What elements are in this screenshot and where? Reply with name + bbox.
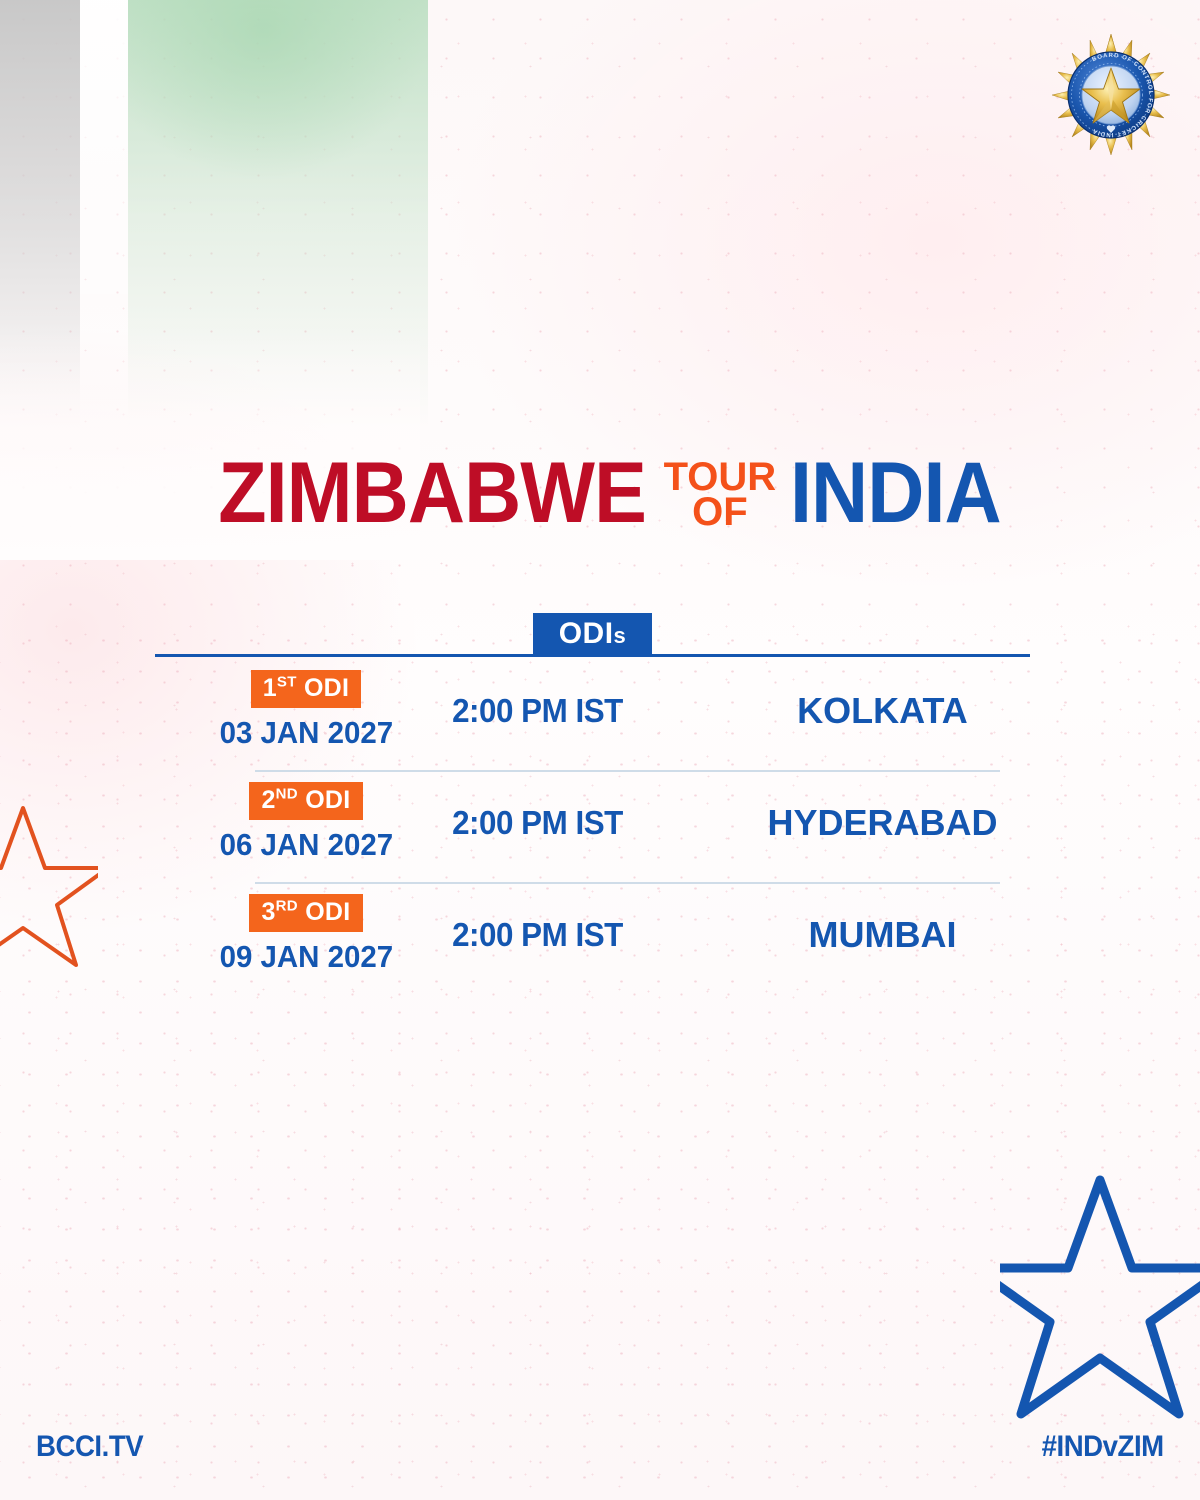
title-connector: TOUR OF — [664, 456, 777, 530]
match-badge: 3RD ODI — [249, 894, 362, 932]
fixture-poster: BOARD OF CONTROL FOR CRICKET INDIA ZIMBA… — [0, 0, 1200, 1500]
footer-site-label: BCCI.TV — [36, 1430, 143, 1464]
title-team-away: ZIMBABWE — [218, 452, 646, 535]
footer-hashtag: #INDvZIM — [1042, 1430, 1164, 1464]
star-outline-orange-icon — [0, 800, 98, 970]
section-divider-rule — [155, 654, 1030, 657]
match-badge: 1ST ODI — [251, 670, 362, 708]
match-badge-number: 3 — [261, 898, 275, 926]
match-badge-format: ODI — [304, 674, 349, 702]
title-team-home: INDIA — [790, 452, 1001, 535]
section-header-suffix: s — [614, 623, 627, 648]
match-time: 2:00 PM IST — [435, 660, 720, 730]
star-outline-blue-icon — [1000, 1170, 1200, 1420]
fixture-date-column: 3RD ODI 09 JAN 2027 — [155, 884, 435, 975]
match-badge-format: ODI — [305, 898, 350, 926]
match-badge-ordinal: RD — [276, 898, 298, 915]
title-connector-line2: OF — [692, 495, 748, 530]
match-badge: 2ND ODI — [249, 782, 362, 820]
bcci-logo: BOARD OF CONTROL FOR CRICKET INDIA — [1050, 34, 1172, 156]
match-date: 03 JAN 2027 — [219, 715, 393, 751]
poster-title: ZIMBABWE TOUR OF INDIA — [0, 452, 1200, 535]
match-badge-ordinal: ND — [276, 786, 298, 803]
section-header-label: ODI — [559, 617, 614, 650]
match-date: 06 JAN 2027 — [219, 827, 393, 863]
fixture-row-1[interactable]: 1ST ODI 03 JAN 2027 2:00 PM IST KOLKATA — [155, 660, 1030, 772]
match-time: 2:00 PM IST — [435, 884, 720, 954]
tricolour-band-green-glow — [128, 0, 428, 300]
fixture-row-2[interactable]: 2ND ODI 06 JAN 2027 2:00 PM IST HYDERABA… — [155, 772, 1030, 884]
match-venue: HYDERABAD — [735, 772, 1030, 844]
match-badge-format: ODI — [305, 786, 350, 814]
section-header-badge: ODIs — [533, 613, 653, 656]
match-time: 2:00 PM IST — [435, 772, 720, 842]
match-badge-number: 2 — [261, 786, 275, 814]
fixture-date-column: 1ST ODI 03 JAN 2027 — [155, 660, 435, 751]
fixture-date-column: 2ND ODI 06 JAN 2027 — [155, 772, 435, 863]
fixtures-list: 1ST ODI 03 JAN 2027 2:00 PM IST KOLKATA … — [155, 660, 1030, 996]
match-venue: KOLKATA — [735, 660, 1030, 732]
match-badge-ordinal: ST — [277, 674, 297, 691]
match-badge-number: 1 — [263, 674, 277, 702]
section-header-row: ODIs — [155, 606, 1030, 656]
match-date: 09 JAN 2027 — [219, 939, 393, 975]
fixture-row-3[interactable]: 3RD ODI 09 JAN 2027 2:00 PM IST MUMBAI — [155, 884, 1030, 996]
match-venue: MUMBAI — [735, 884, 1030, 956]
